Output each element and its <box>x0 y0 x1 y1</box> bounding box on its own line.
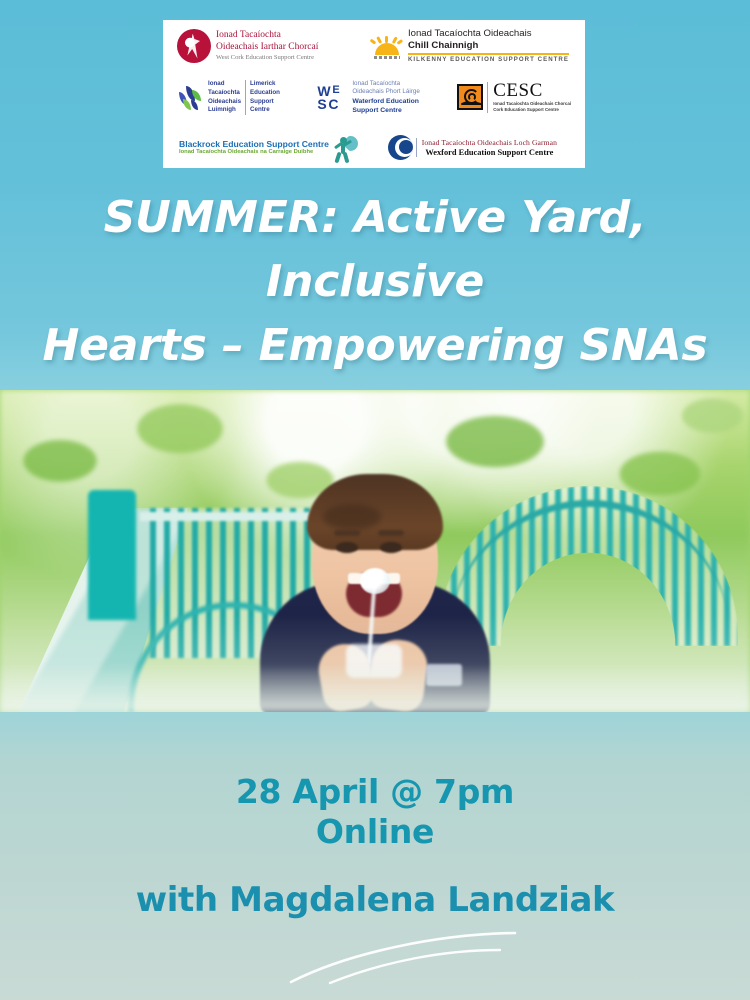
event-location: Online <box>0 812 750 852</box>
wexford-line1: Ionad Tacaíochta Oideachais Loch Garman <box>422 138 557 147</box>
limerick-line2: Tacaíochta <box>208 89 241 98</box>
logo-row-2: Ionad Tacaíochta Oideachais Luimnigh Lim… <box>173 80 575 115</box>
limerick-right3: Support <box>250 98 280 107</box>
kilkenny-line3: KILKENNY EDUCATION SUPPORT CENTRE <box>408 56 569 63</box>
wexford-crescent-logo-icon <box>388 135 413 160</box>
poster-background: Ionad Tacaíochta Oideachais Iarthar Chor… <box>0 0 750 1000</box>
cesc-line2: Cork Education Support Centre <box>493 107 571 113</box>
waterford-line4: Support Centre <box>352 106 420 115</box>
west-cork-line1: Ionad Tacaíochta <box>216 30 318 41</box>
kilkenny-line1: Ionad Tacaíochta Oideachais <box>408 28 569 40</box>
wesc-c: C <box>328 97 338 111</box>
sunrise-icon <box>372 33 402 59</box>
waterford-line2: Oideachais Phort Láirge <box>352 88 420 96</box>
cesc-spiral-logo-icon <box>457 84 483 110</box>
wesc-s: S <box>317 97 326 111</box>
limerick-line3: Oideachais <box>208 98 241 107</box>
limerick-right1: Limerick <box>250 80 280 89</box>
wesc-monogram-logo-icon: W E S C <box>317 84 347 112</box>
logo-waterford: W E S C Ionad Tacaíochta Oideachais Phor… <box>317 80 420 115</box>
hero-photo <box>0 390 750 712</box>
limerick-leaf-logo-icon <box>177 85 203 111</box>
limerick-line1: Ionad <box>208 80 241 89</box>
logo-west-cork: Ionad Tacaíochta Oideachais Iarthar Chor… <box>177 29 318 63</box>
logo-cork-cesc: CESC Ionad Tacaíochta Oideachais Chorcaí… <box>457 82 571 113</box>
kilkenny-divider <box>408 53 569 55</box>
limerick-right2: Education <box>250 89 280 98</box>
photo-haze-overlay <box>0 390 750 712</box>
blackrock-line1: Blackrock Education Support Centre <box>179 139 329 149</box>
kilkenny-line2: Chill Chainnigh <box>408 40 569 52</box>
logo-row-3: Blackrock Education Support Centre Ionad… <box>173 132 575 164</box>
wexford-line2: Wexford Education Support Centre <box>422 148 557 157</box>
event-details: 28 April @ 7pm Online <box>0 772 750 852</box>
wesc-e: E <box>332 85 339 96</box>
title-line-1: SUMMER: Active Yard, Inclusive <box>18 186 732 314</box>
logo-wexford: Ionad Tacaíochta Oideachais Loch Garman … <box>388 135 557 160</box>
blackrock-line2: Ionad Tacaíochta Oideachais na Carraige … <box>179 149 329 155</box>
limerick-line4: Luimnigh <box>208 106 241 115</box>
logo-row-1: Ionad Tacaíochta Oideachais Iarthar Chor… <box>173 26 575 63</box>
event-presenter: with Magdalena Landziak <box>0 880 750 920</box>
waterford-line3: Waterford Education <box>352 97 420 106</box>
limerick-right4: Centre <box>250 106 280 115</box>
logo-band: Ionad Tacaíochta Oideachais Iarthar Chor… <box>163 20 585 168</box>
waterford-line1: Ionad Tacaíochta <box>352 80 420 88</box>
blackrock-figure-logo-icon <box>331 132 361 162</box>
west-cork-line2: Oideachais Iarthar Chorcaí <box>216 42 318 53</box>
logo-limerick: Ionad Tacaíochta Oideachais Luimnigh Lim… <box>177 80 280 114</box>
west-cork-circle-logo-icon <box>177 29 211 63</box>
logo-kilkenny: Ionad Tacaíochta Oideachais Chill Chainn… <box>372 28 569 63</box>
decorative-swoosh <box>0 920 750 1000</box>
west-cork-line3: West Cork Education Support Centre <box>216 54 318 61</box>
event-date-time: 28 April @ 7pm <box>0 772 750 812</box>
logo-blackrock: Blackrock Education Support Centre Ionad… <box>179 132 361 162</box>
cesc-acronym: CESC <box>493 82 571 100</box>
